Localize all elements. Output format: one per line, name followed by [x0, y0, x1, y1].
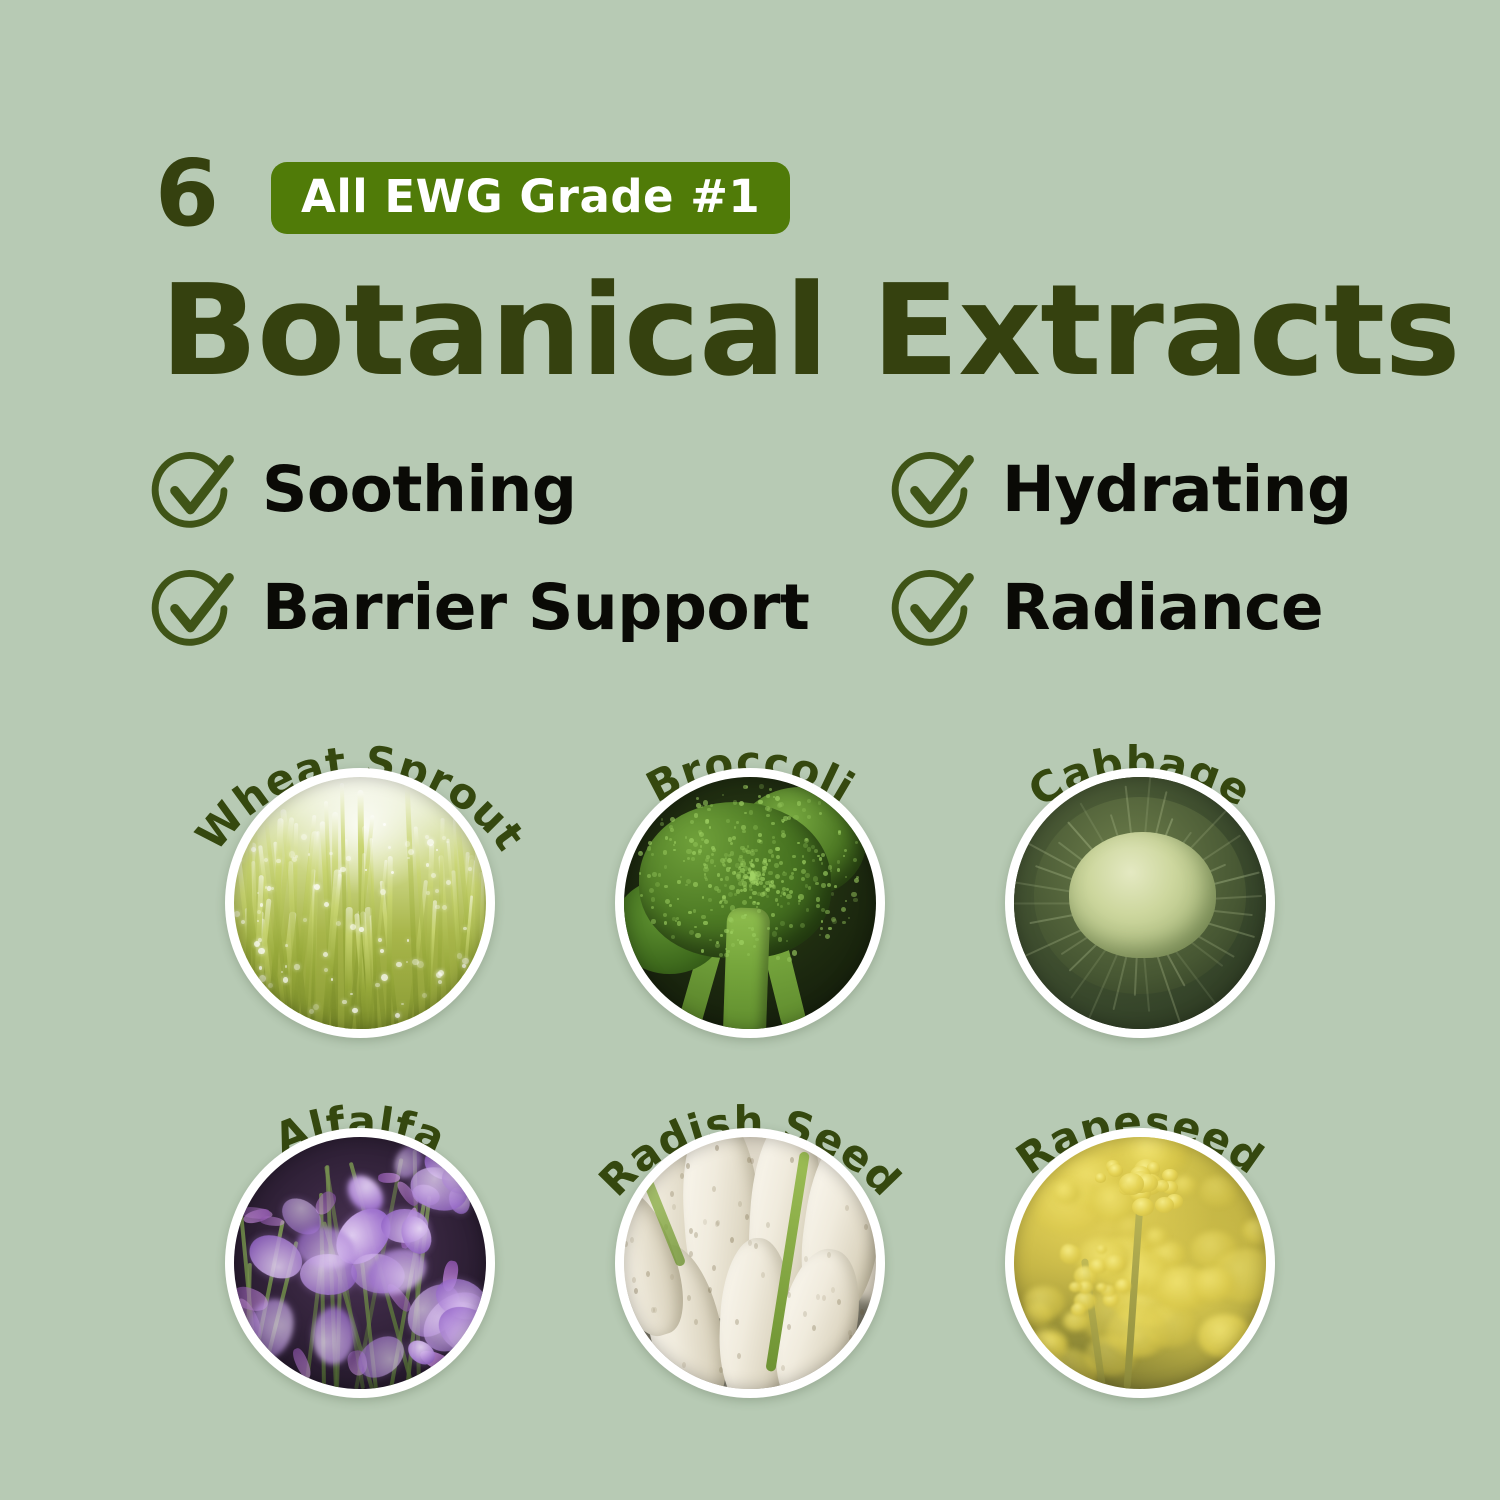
feature-label: Barrier Support — [262, 576, 809, 639]
rapeseed-photo — [1014, 1137, 1266, 1389]
feature-item-barrier-support: Barrier Support — [150, 548, 890, 666]
ingredient-photo-ring — [225, 768, 495, 1038]
wheat-sprout-photo — [234, 777, 486, 1029]
ingredient-photo-ring — [225, 1128, 495, 1398]
feature-item-radiance: Radiance — [890, 548, 1450, 666]
feature-label: Soothing — [262, 458, 576, 521]
ingredient-photo-ring — [615, 768, 885, 1038]
ingredient-item-wheat-sprout: Wheat Sprout — [150, 690, 570, 1060]
ingredient-item-radish-seed: Radish Seed — [540, 1050, 960, 1420]
ingredient-item-cabbage: Cabbage — [930, 690, 1350, 1060]
extract-count: 6 — [155, 153, 217, 236]
ingredient-photo-ring — [1005, 768, 1275, 1038]
ingredient-grid: Wheat Sprout Broccoli — [0, 690, 1500, 1430]
feature-item-hydrating: Hydrating — [890, 430, 1450, 548]
count-and-badge-row: 6 All EWG Grade #1 — [155, 152, 790, 244]
feature-label: Hydrating — [1002, 458, 1352, 521]
feature-label: Radiance — [1002, 576, 1323, 639]
feature-item-soothing: Soothing — [150, 430, 890, 548]
check-circle-icon — [890, 446, 976, 532]
ingredient-item-broccoli: Broccoli — [540, 690, 960, 1060]
ingredient-photo-ring — [1005, 1128, 1275, 1398]
check-circle-icon — [890, 564, 976, 650]
check-circle-icon — [150, 564, 236, 650]
ewg-grade-badge: All EWG Grade #1 — [271, 162, 790, 234]
radish-seed-photo — [624, 1137, 876, 1389]
ingredient-photo-ring — [615, 1128, 885, 1398]
ingredient-item-alfalfa: Alfalfa — [150, 1050, 570, 1420]
alfalfa-photo — [234, 1137, 486, 1389]
ingredient-item-rapeseed: Rapeseed — [930, 1050, 1350, 1420]
check-circle-icon — [150, 446, 236, 532]
cabbage-photo — [1014, 777, 1266, 1029]
broccoli-photo — [624, 777, 876, 1029]
features-block: Soothing Hydrating Barrier Support Radia… — [150, 430, 1430, 666]
page-title: Botanical Extracts — [160, 268, 1460, 394]
